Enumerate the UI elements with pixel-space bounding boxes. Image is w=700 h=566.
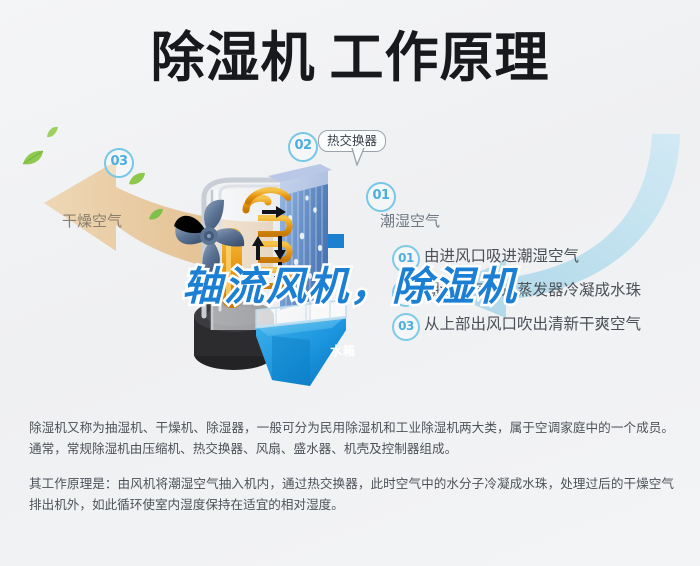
callout-heat-exchanger-label: 热交换器 (327, 134, 377, 148)
page-title-part2: 工作原理 (330, 28, 550, 88)
poster-root: 除湿机工作原理 (0, 0, 700, 566)
body-paragraph-1: 除湿机又称为抽湿机、干燥机、除湿器，一般可分为民用除湿机和工业除湿机两大类，属于… (29, 418, 674, 460)
label-humid-air: 潮湿空气 (380, 210, 440, 231)
list-item: 03 从上部出风口吹出清新干爽空气 (392, 311, 692, 345)
overlay-headline: 轴流风机，除湿机 (0, 264, 700, 310)
leaf-icon (128, 172, 146, 186)
page-title-part1: 除湿机 (151, 28, 316, 88)
label-water-tank: 水箱 (330, 342, 356, 359)
label-dry-air: 干燥空气 (62, 210, 122, 231)
diagram-marker-02: 02 (288, 132, 318, 162)
step-number: 03 (392, 313, 420, 341)
leaf-icon (22, 150, 44, 166)
page-title: 除湿机工作原理 (0, 28, 700, 88)
diagram-marker-03: 03 (104, 148, 134, 178)
body-copy: 除湿机又称为抽湿机、干燥机、除湿器，一般可分为民用除湿机和工业除湿机两大类，属于… (29, 418, 674, 516)
leaf-icon (46, 126, 59, 138)
body-paragraph-2: 其工作原理是：由风机将潮湿空气抽入机内，通过热交换器，此时空气中的水分子冷凝成水… (29, 474, 674, 516)
overlay-headline-text: 轴流风机，除湿机 (182, 264, 518, 310)
step-text: 从上部出风口吹出清新干爽空气 (424, 313, 641, 337)
diagram-marker-01: 01 (366, 182, 396, 212)
callout-tail-icon (350, 148, 366, 166)
